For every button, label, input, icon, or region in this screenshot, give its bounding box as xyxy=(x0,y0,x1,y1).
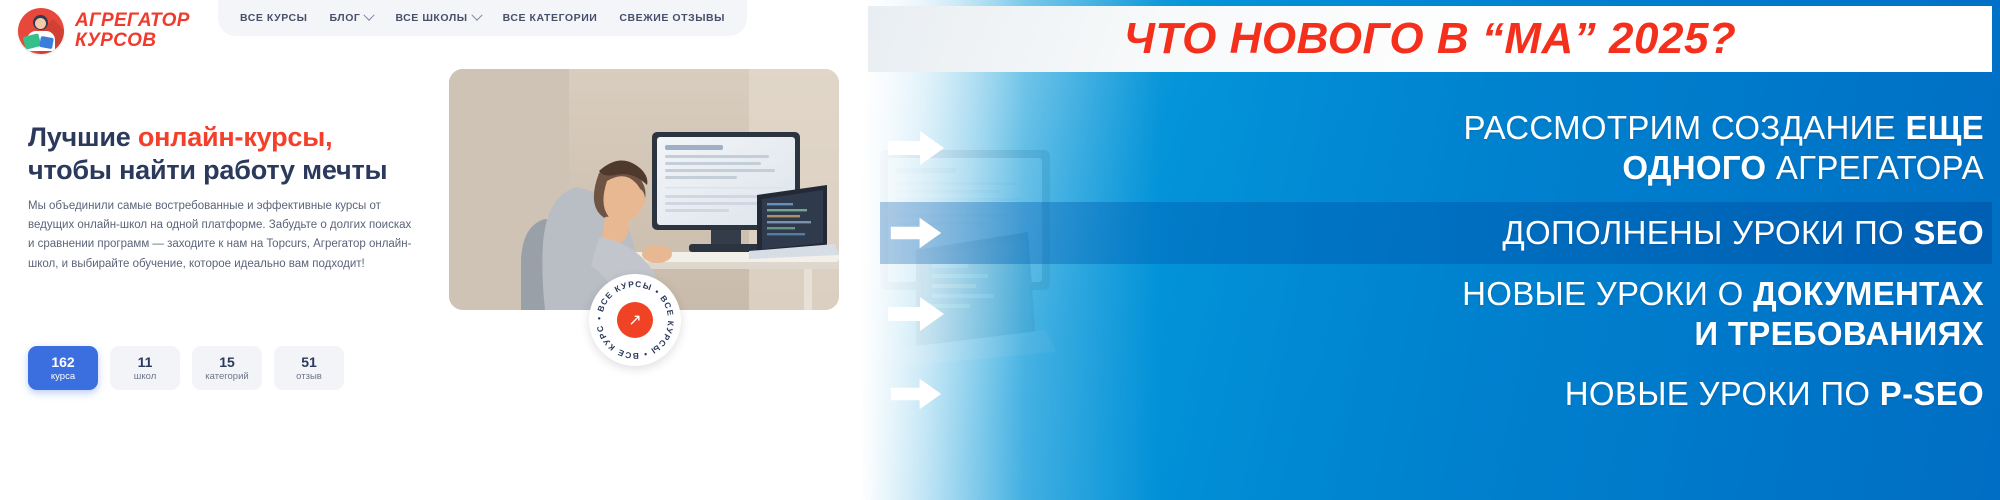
banner-headline: ЧТО НОВОГО В “МА” 2025? xyxy=(1124,14,1737,64)
nav-label: ВСЕ КУРСЫ xyxy=(240,12,307,24)
banner-bullet-item: ДОПОЛНЕНЫ УРОКИ ПО SEO xyxy=(880,202,1992,264)
stat-number: 162 xyxy=(51,354,74,370)
bullet-text-bold: SEO xyxy=(1913,214,1984,251)
hero-title-line1-plain: Лучшие xyxy=(28,122,138,152)
arrow-right-icon xyxy=(880,294,952,334)
bullet-text-bold: ЕЩЕ xyxy=(1905,109,1984,146)
stats-row: 162 курса 11 школ 15 категорий 51 отзыв xyxy=(28,346,344,390)
promo-banner: ЧТО НОВОГО В “МА” 2025? РАССМОТРИМ СОЗДА… xyxy=(860,0,2000,500)
hero-description: Мы объединили самые востребованные и эфф… xyxy=(28,197,420,275)
stat-card-courses[interactable]: 162 курса xyxy=(28,346,98,390)
stat-label: курса xyxy=(51,370,75,383)
nav-label: ВСЕ ШКОЛЫ xyxy=(395,12,467,24)
stat-card-schools[interactable]: 11 школ xyxy=(110,346,180,390)
person-book-avatar-icon xyxy=(18,8,64,54)
chevron-down-icon xyxy=(364,10,375,21)
nav-item-blog[interactable]: БЛОГ xyxy=(329,12,373,24)
bullet-text-bold: ОДНОГО xyxy=(1622,149,1766,186)
banner-headline-box: ЧТО НОВОГО В “МА” 2025? xyxy=(868,6,1992,72)
stat-card-reviews[interactable]: 51 отзыв xyxy=(274,346,344,390)
website-hero-section: АГРЕГАТОР КУРСОВ ВСЕ КУРСЫ БЛОГ ВСЕ ШКОЛ… xyxy=(0,0,1000,500)
stat-label: школ xyxy=(134,370,157,383)
nav-item-all-categories[interactable]: ВСЕ КАТЕГОРИИ xyxy=(503,12,598,24)
hero-title-line2: чтобы найти работу мечты xyxy=(28,155,387,185)
all-courses-circular-badge[interactable]: • ВСЕ КУРСЫ • ВСЕ КУРСЫ • ВСЕ КУРСЫ ↗ xyxy=(589,274,681,366)
chevron-down-icon xyxy=(471,10,482,21)
bullet-text-thin: ДОПОЛНЕНЫ УРОКИ ПО xyxy=(1502,214,1913,251)
main-navigation: ВСЕ КУРСЫ БЛОГ ВСЕ ШКОЛЫ ВСЕ КАТЕГОРИИ С… xyxy=(218,0,747,36)
stat-number: 51 xyxy=(301,354,317,370)
banner-bullet-item: НОВЫЕ УРОКИ ПО P-SEO xyxy=(880,364,1992,424)
banner-bullet-item: НОВЫЕ УРОКИ О ДОКУМЕНТАХ И ТРЕБОВАНИЯХ xyxy=(880,264,1992,364)
logo-text: АГРЕГАТОР КУРСОВ xyxy=(75,11,190,51)
arrow-up-right-icon[interactable]: ↗ xyxy=(617,302,653,338)
bullet-text-thin: АГРЕГАТОРА xyxy=(1766,149,1984,186)
banner-bullet-text: НОВЫЕ УРОКИ О ДОКУМЕНТАХ И ТРЕБОВАНИЯХ xyxy=(970,274,1992,354)
logo-line-2: КУРСОВ xyxy=(75,31,190,51)
stat-number: 15 xyxy=(219,354,235,370)
stat-number: 11 xyxy=(138,354,153,370)
nav-item-all-schools[interactable]: ВСЕ ШКОЛЫ xyxy=(395,12,480,24)
banner-bullet-item: РАССМОТРИМ СОЗДАНИЕ ЕЩЕ ОДНОГО АГРЕГАТОР… xyxy=(880,94,1992,202)
bullet-text-thin: НОВЫЕ УРОКИ О xyxy=(1462,275,1753,312)
nav-label: БЛОГ xyxy=(329,12,360,24)
arrow-right-icon xyxy=(880,128,952,168)
nav-label: ВСЕ КАТЕГОРИИ xyxy=(503,12,598,24)
hero-title-line1-highlight: онлайн-курсы, xyxy=(138,122,333,152)
screenshot-stage: АГРЕГАТОР КУРСОВ ВСЕ КУРСЫ БЛОГ ВСЕ ШКОЛ… xyxy=(0,0,2000,500)
bullet-text-thin: РАССМОТРИМ СОЗДАНИЕ xyxy=(1464,109,1906,146)
nav-label: СВЕЖИЕ ОТЗЫВЫ xyxy=(619,12,725,24)
banner-bullet-text: РАССМОТРИМ СОЗДАНИЕ ЕЩЕ ОДНОГО АГРЕГАТОР… xyxy=(970,108,1992,188)
nav-item-all-courses[interactable]: ВСЕ КУРСЫ xyxy=(240,12,307,24)
stat-label: отзыв xyxy=(296,370,322,383)
bullet-text-bold: И ТРЕБОВАНИЯХ xyxy=(1694,315,1984,352)
arrow-right-icon xyxy=(880,215,952,251)
stat-label: категорий xyxy=(205,370,248,383)
banner-bullet-text: НОВЫЕ УРОКИ ПО P-SEO xyxy=(970,374,1992,414)
bullet-text-bold: ДОКУМЕНТАХ xyxy=(1753,275,1984,312)
logo-line-1: АГРЕГАТОР xyxy=(75,11,190,31)
bullet-text-bold: P-SEO xyxy=(1880,375,1984,412)
banner-bullet-text: ДОПОЛНЕНЫ УРОКИ ПО SEO xyxy=(970,213,1992,253)
hero-title: Лучшие онлайн-курсы, чтобы найти работу … xyxy=(28,121,387,187)
banner-bullet-list: РАССМОТРИМ СОЗДАНИЕ ЕЩЕ ОДНОГО АГРЕГАТОР… xyxy=(880,94,1992,424)
stat-card-categories[interactable]: 15 категорий xyxy=(192,346,262,390)
bullet-text-thin: НОВЫЕ УРОКИ ПО xyxy=(1565,375,1880,412)
arrow-right-icon xyxy=(880,376,952,412)
nav-item-fresh-reviews[interactable]: СВЕЖИЕ ОТЗЫВЫ xyxy=(619,12,725,24)
site-logo[interactable]: АГРЕГАТОР КУРСОВ xyxy=(18,8,190,54)
